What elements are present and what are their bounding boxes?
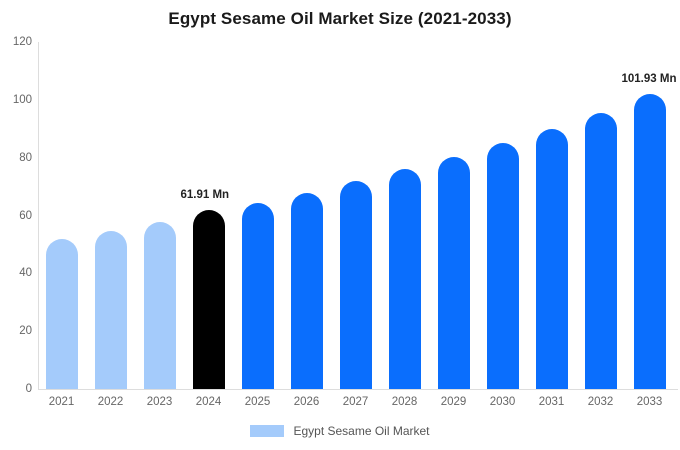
x-axis-tick-2022: 2022 <box>86 396 136 408</box>
bar-2023[interactable] <box>144 42 176 389</box>
bar-fill-2026 <box>291 193 323 389</box>
chart-title: Egypt Sesame Oil Market Size (2021-2033) <box>0 9 680 29</box>
bar-fill-2024 <box>193 210 225 389</box>
bar-fill-2021 <box>46 239 78 389</box>
y-axis-tick-120: 120 <box>2 36 32 48</box>
bar-2025[interactable] <box>242 42 274 389</box>
bar-2027[interactable] <box>340 42 372 389</box>
bar-fill-2033 <box>634 94 666 389</box>
x-axis-tick-2029: 2029 <box>429 396 479 408</box>
bar-value-label-2033: 101.93 Mn <box>622 73 677 85</box>
x-axis-tick-2023: 2023 <box>135 396 185 408</box>
bar-2028[interactable] <box>389 42 421 389</box>
x-axis-tick-2026: 2026 <box>282 396 332 408</box>
bar-fill-2027 <box>340 181 372 389</box>
y-axis-tick-0: 0 <box>2 383 32 395</box>
y-axis-tick-60: 60 <box>2 210 32 222</box>
bar-value-label-2024: 61.91 Mn <box>181 189 230 201</box>
y-axis-tick-labels: 020406080100120 <box>0 0 32 450</box>
bar-fill-2023 <box>144 222 176 389</box>
plot-area <box>38 42 676 389</box>
bar-2021[interactable] <box>46 42 78 389</box>
bar-fill-2031 <box>536 129 568 389</box>
bar-fill-2022 <box>95 231 127 389</box>
bar-fill-2025 <box>242 203 274 390</box>
legend-label-egypt-sesame-oil-market: Egypt Sesame Oil Market <box>293 424 429 438</box>
y-axis-tick-80: 80 <box>2 152 32 164</box>
y-axis-tick-20: 20 <box>2 325 32 337</box>
bar-2032[interactable] <box>585 42 617 389</box>
x-axis-tick-2021: 2021 <box>37 396 87 408</box>
bar-fill-2030 <box>487 143 519 389</box>
x-axis-tick-2028: 2028 <box>380 396 430 408</box>
bar-2024[interactable] <box>193 42 225 389</box>
bar-2033[interactable] <box>634 42 666 389</box>
x-axis-tick-2024: 2024 <box>184 396 234 408</box>
bar-2026[interactable] <box>291 42 323 389</box>
x-axis-tick-2030: 2030 <box>478 396 528 408</box>
x-axis-tick-2027: 2027 <box>331 396 381 408</box>
legend-swatch-egypt-sesame-oil-market <box>250 425 284 437</box>
x-axis-tick-2032: 2032 <box>576 396 626 408</box>
bar-fill-2029 <box>438 157 470 389</box>
x-axis-tick-2033: 2033 <box>625 396 675 408</box>
x-axis-tick-2031: 2031 <box>527 396 577 408</box>
bar-2029[interactable] <box>438 42 470 389</box>
bar-fill-2028 <box>389 169 421 389</box>
bar-2022[interactable] <box>95 42 127 389</box>
x-axis-line <box>38 389 678 390</box>
y-axis-tick-100: 100 <box>2 94 32 106</box>
bar-2030[interactable] <box>487 42 519 389</box>
bar-2031[interactable] <box>536 42 568 389</box>
x-axis-tick-2025: 2025 <box>233 396 283 408</box>
bar-chart: Egypt Sesame Oil Market Size (2021-2033)… <box>0 0 680 450</box>
chart-legend: Egypt Sesame Oil Market <box>0 424 680 438</box>
bar-fill-2032 <box>585 113 617 389</box>
y-axis-tick-40: 40 <box>2 267 32 279</box>
